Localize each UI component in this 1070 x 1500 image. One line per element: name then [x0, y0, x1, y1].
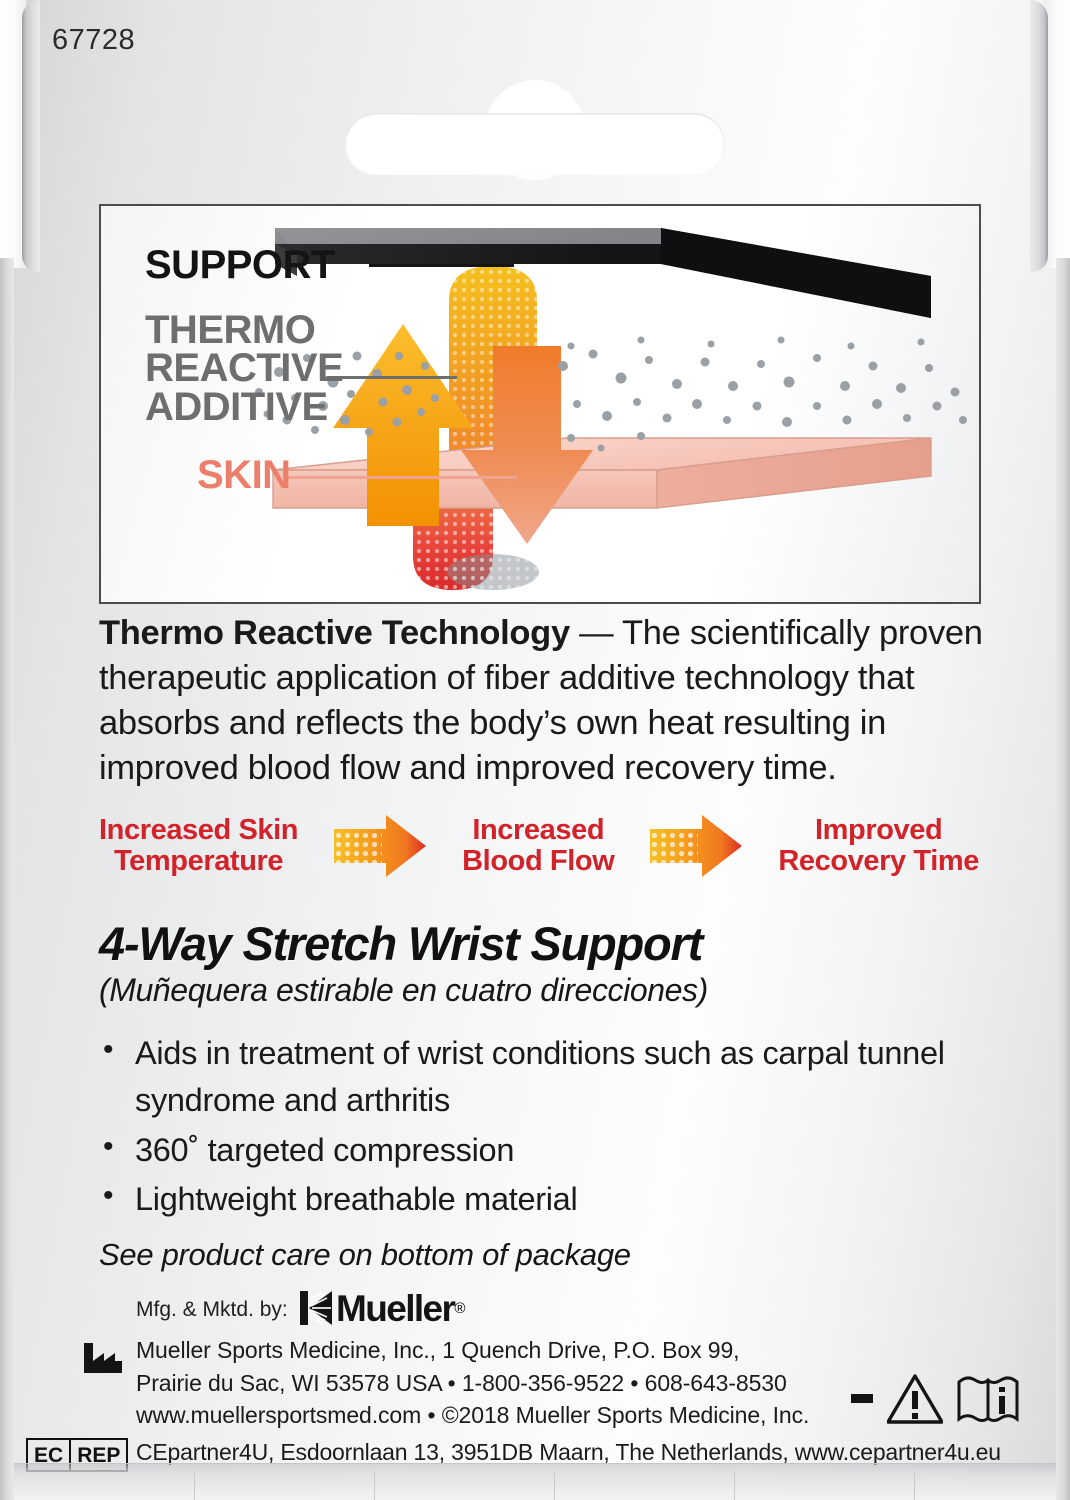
manufacturer-factory-icon — [80, 1339, 126, 1377]
thermo-reactive-diagram: SUPPORT THERMO REACTIVE ADDITIVE SKIN — [99, 204, 981, 604]
technology-heading: Thermo Reactive Technology — [99, 614, 570, 652]
list-item: Lightweight breathable material — [99, 1176, 999, 1223]
package-bottom-fold — [14, 1463, 1056, 1500]
mueller-logo: Mueller ® — [300, 1288, 465, 1328]
card-upper-edge-right — [1030, 0, 1048, 272]
product-title-spanish: (Muñequera estirable en cuatro direccion… — [99, 972, 999, 1009]
mueller-wordmark: Mueller — [336, 1290, 454, 1327]
flow-arrow-icon-2 — [650, 813, 742, 879]
address-line-3: www.muellersportsmed.com • ©2018 Mueller… — [136, 1399, 809, 1432]
package-footer: Mfg. & Mktd. by: Mueller ® Mueller Sport… — [0, 1292, 1070, 1492]
ec-rep-address: CEpartner4U, Esdoornlaan 13, 3951DB Maar… — [136, 1439, 1001, 1466]
benefit-step-2: Increased Blood Flow — [462, 815, 614, 878]
mueller-bandage-mark-icon — [300, 1289, 334, 1327]
benefit-step-3: Improved Recovery Time — [778, 815, 979, 878]
manufacturer-address-block: Mueller Sports Medicine, Inc., 1 Quench … — [136, 1334, 809, 1432]
warning-triangle-icon — [887, 1374, 943, 1424]
list-item: Aids in treatment of wrist conditions su… — [99, 1030, 999, 1125]
diagram-label-support: SUPPORT — [145, 246, 335, 284]
address-line-1: Mueller Sports Medicine, Inc., 1 Quench … — [136, 1334, 809, 1367]
hang-tab-slot — [345, 80, 725, 175]
diagram-label-skin: SKIN — [197, 456, 291, 494]
product-feature-list: Aids in treatment of wrist conditions su… — [99, 1030, 999, 1226]
card-upper-edge-left — [22, 0, 40, 272]
benefit-flow-row: Increased Skin Temperature Inc — [99, 806, 979, 886]
diagram-label-thermo-reactive-additive: THERMO REACTIVE ADDITIVE — [145, 311, 343, 426]
sku-number: 67728 — [52, 24, 135, 57]
consult-instructions-icon — [957, 1374, 1019, 1424]
hang-tab-bar — [345, 113, 725, 175]
address-line-2: Prairie du Sac, WI 53578 USA • 1-800-356… — [136, 1367, 809, 1400]
leader-line-additive — [327, 376, 457, 379]
leader-line-skin — [287, 476, 517, 479]
product-title-english: 4-Way Stretch Wrist Support — [99, 916, 999, 971]
benefit-step-1: Increased Skin Temperature — [99, 815, 298, 878]
technology-dash: — — [570, 614, 622, 652]
product-care-note: See product care on bottom of package — [99, 1237, 999, 1273]
list-item: 360˚ targeted compression — [99, 1127, 999, 1174]
leader-line-support — [369, 264, 514, 267]
mfg-marketed-by-label: Mfg. & Mktd. by: — [136, 1298, 288, 1322]
regulatory-symbol-group — [795, 1370, 1019, 1428]
thermo-reactive-technology-paragraph: Thermo Reactive Technology — The scienti… — [99, 611, 984, 790]
flow-arrow-icon-1 — [334, 813, 426, 879]
product-package-card: 67728 — [0, 0, 1070, 1500]
registered-trademark-icon: ® — [454, 1300, 465, 1317]
ce-mark-icon — [795, 1370, 873, 1428]
